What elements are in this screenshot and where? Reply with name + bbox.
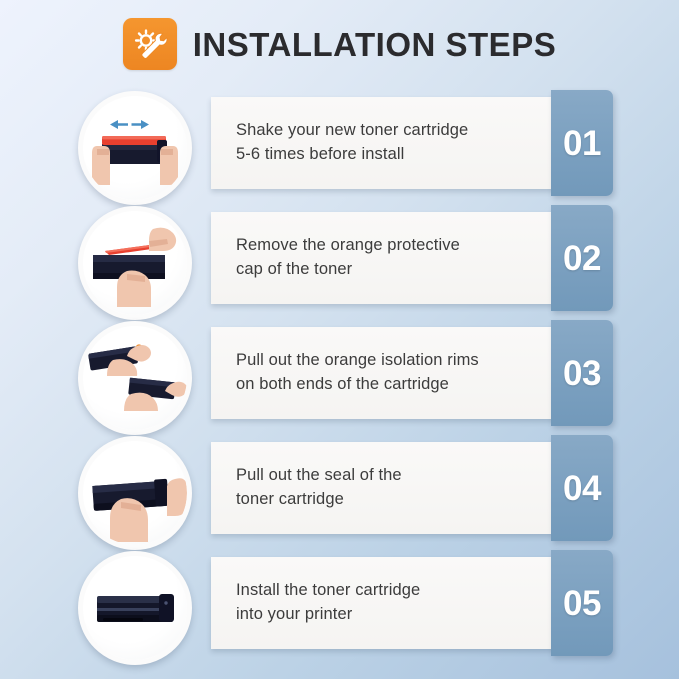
left-hand <box>92 146 110 185</box>
step-text: Pull out the seal of the toner cartridge <box>236 464 402 512</box>
step-number-badge: 01 <box>551 90 613 196</box>
step-row: Pull out the orange isolation rims on bo… <box>0 315 679 430</box>
step-image-2-inner <box>83 211 187 315</box>
step-image-4 <box>78 436 192 550</box>
step-text: Shake your new toner cartridge 5-6 times… <box>236 119 468 167</box>
step-image-4-inner <box>83 441 187 545</box>
step-number-label: 02 <box>563 241 601 276</box>
right-hand <box>160 146 178 185</box>
step-number-badge: 03 <box>551 320 613 426</box>
step-card: Shake your new toner cartridge 5-6 times… <box>211 97 559 189</box>
step-row: Install the toner cartridge into your pr… <box>0 545 679 660</box>
step-image-3 <box>78 321 192 435</box>
step-number-label: 05 <box>563 586 601 621</box>
black-toner-cartridge-illustration <box>83 556 187 660</box>
step-card: Install the toner cartridge into your pr… <box>211 557 559 649</box>
step-image-1-inner <box>83 96 187 200</box>
step-text: Pull out the orange isolation rims on bo… <box>236 349 479 397</box>
step-text: Remove the orange protective cap of the … <box>236 234 460 282</box>
step-number-badge: 02 <box>551 205 613 311</box>
supporting-hand <box>117 271 151 308</box>
pulling-hand <box>149 228 176 251</box>
hands-pulling-isolation-rims-illustration <box>83 326 187 430</box>
step-number-label: 03 <box>563 356 601 391</box>
supporting-hand <box>110 498 148 542</box>
step-number-label: 04 <box>563 471 601 506</box>
step-row: Pull out the seal of the toner cartridge… <box>0 430 679 545</box>
step-image-2 <box>78 206 192 320</box>
step-text: Install the toner cartridge into your pr… <box>236 579 420 627</box>
step-number-badge: 05 <box>551 550 613 656</box>
page-title: INSTALLATION STEPS <box>193 28 556 61</box>
step-image-5-inner <box>83 556 187 660</box>
step-image-3-inner <box>83 326 187 430</box>
shake-arrows-icon <box>110 120 149 129</box>
page-header: INSTALLATION STEPS <box>0 0 679 88</box>
step-row: Shake your new toner cartridge 5-6 times… <box>0 85 679 200</box>
step-row: Remove the orange protective cap of the … <box>0 200 679 315</box>
hand-removing-orange-cap-illustration <box>83 211 187 315</box>
pulling-hand <box>167 478 187 516</box>
step-number-label: 01 <box>563 126 601 161</box>
step-card: Remove the orange protective cap of the … <box>211 212 559 304</box>
cartridge-lower-right <box>124 378 187 411</box>
step-card: Pull out the seal of the toner cartridge <box>211 442 559 534</box>
cartridge-upper-left <box>88 344 151 376</box>
gear-wrench-icon <box>132 27 168 61</box>
step-image-1 <box>78 91 192 205</box>
hands-pulling-seal-illustration <box>83 441 187 545</box>
step-number-badge: 04 <box>551 435 613 541</box>
step-image-5 <box>78 551 192 665</box>
step-card: Pull out the orange isolation rims on bo… <box>211 327 559 419</box>
hands-shaking-toner-cartridge-illustration <box>83 96 187 200</box>
gear-wrench-icon-badge <box>123 18 177 70</box>
